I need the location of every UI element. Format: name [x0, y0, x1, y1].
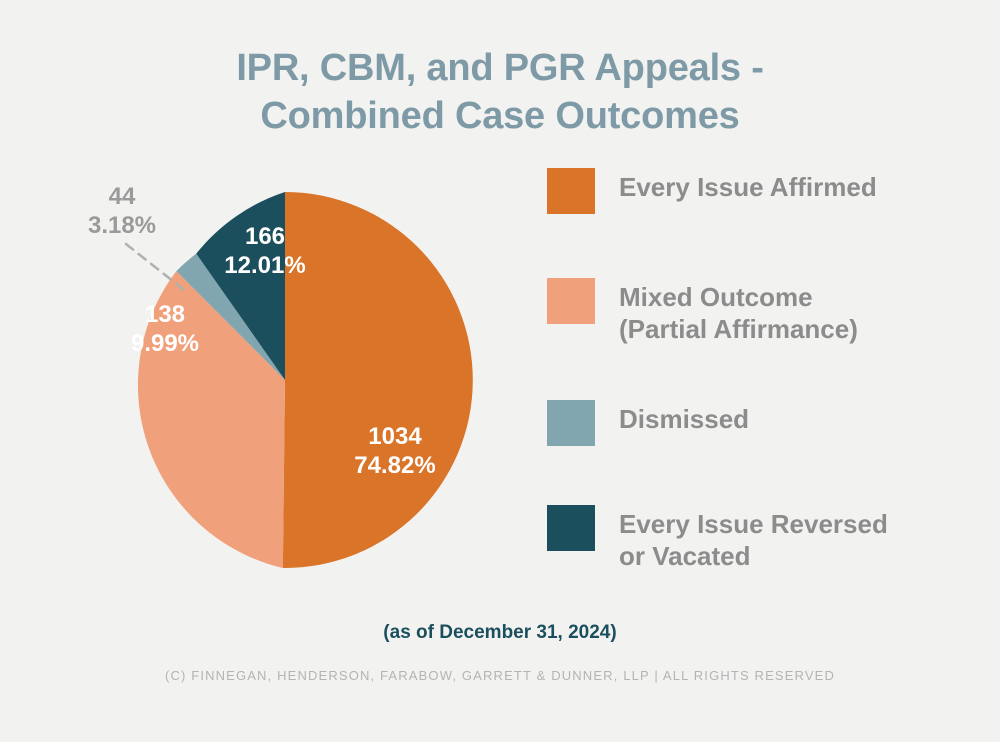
legend-item-label: Mixed Outcome (Partial Affirmance) [619, 278, 858, 345]
slice-label-dismissed: 44 3.18% [52, 182, 192, 240]
legend-item-dismissed[interactable]: Dismissed [547, 400, 749, 446]
dismissed-leader-line [126, 244, 188, 293]
legend-item-label: Every Issue Reversed or Vacated [619, 505, 888, 572]
pie-chart: 1034 74.82% 138 9.99% 166 12.01% 44 3.18… [60, 160, 520, 600]
legend-swatch-icon [547, 400, 595, 446]
legend-item-every-issue-reversed[interactable]: Every Issue Reversed or Vacated [547, 505, 888, 572]
as-of-note: (as of December 31, 2024) [0, 622, 1000, 644]
page-title: IPR, CBM, and PGR Appeals - Combined Cas… [0, 44, 1000, 140]
dismissed-value: 44 [52, 182, 192, 211]
copyright-notice: (C) FINNEGAN, HENDERSON, FARABOW, GARRET… [0, 668, 1000, 683]
legend-swatch-icon [547, 168, 595, 214]
legend-swatch-icon [547, 278, 595, 324]
legend-item-every-issue-affirmed[interactable]: Every Issue Affirmed [547, 168, 877, 214]
legend-swatch-icon [547, 505, 595, 551]
dismissed-percent: 3.18% [52, 211, 192, 240]
pie-slice-every-issue-affirmed[interactable] [283, 192, 473, 568]
legend-item-label: Dismissed [619, 400, 749, 435]
title-line-2: Combined Case Outcomes [0, 92, 1000, 140]
legend-item-mixed-outcome[interactable]: Mixed Outcome (Partial Affirmance) [547, 278, 858, 345]
title-line-1: IPR, CBM, and PGR Appeals - [0, 44, 1000, 92]
chart-page: IPR, CBM, and PGR Appeals - Combined Cas… [0, 0, 1000, 742]
legend-item-label: Every Issue Affirmed [619, 168, 877, 203]
